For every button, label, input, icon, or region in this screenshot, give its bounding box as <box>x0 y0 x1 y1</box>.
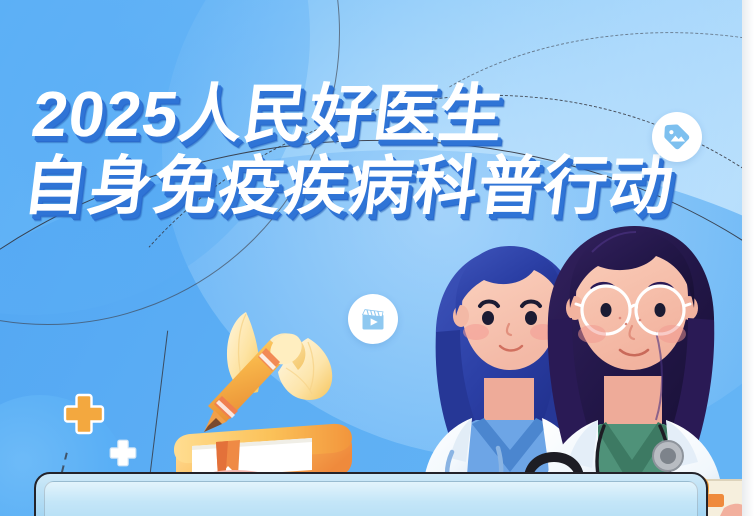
poster-banner: 2025人民好医生 自身免疫疾病科普行动 <box>0 0 754 516</box>
video-clapperboard-icon <box>358 304 388 334</box>
video-badge[interactable] <box>348 294 398 344</box>
pencil-book-art <box>162 300 362 500</box>
plus-white-decor <box>108 438 138 468</box>
plus-icon <box>108 438 138 468</box>
doctors-illustration <box>406 212 746 516</box>
winged-pencil-and-book-illustration <box>162 300 362 500</box>
plus-icon <box>62 392 106 436</box>
image-icon <box>662 122 692 152</box>
two-doctors-art <box>406 212 746 516</box>
title-line-1: 2025人民好医生 <box>28 82 686 146</box>
title-line-2: 自身免疫疾病科普行动 <box>20 154 678 218</box>
plus-orange-decor <box>62 392 106 436</box>
image-badge[interactable] <box>652 112 702 162</box>
bottom-panel-inner <box>44 481 698 516</box>
right-edge-gutter <box>742 0 754 516</box>
bottom-panel[interactable] <box>34 472 708 516</box>
poster-title: 2025人民好医生 自身免疫疾病科普行动 <box>20 82 687 218</box>
